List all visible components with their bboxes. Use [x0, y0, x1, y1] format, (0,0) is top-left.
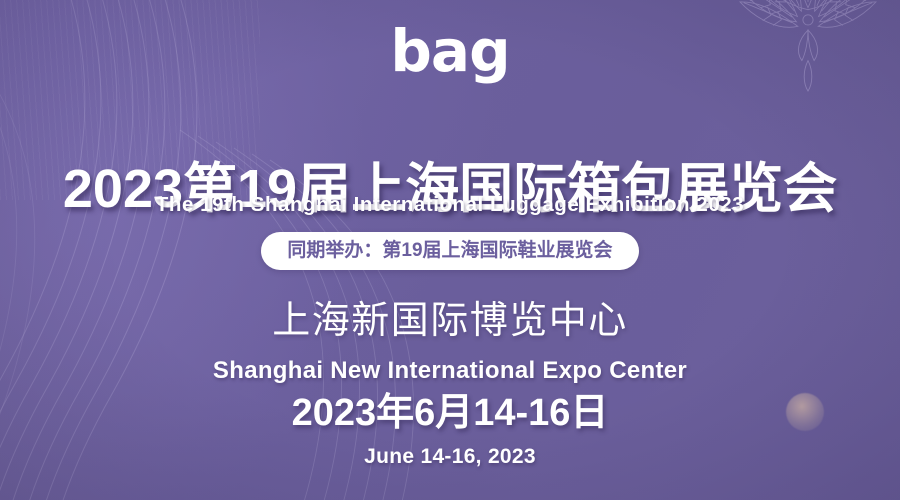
banner-content: bag 2023第19届上海国际箱包展览会 The 19th Shanghai …	[0, 0, 900, 500]
exhibition-banner: bag 2023第19届上海国际箱包展览会 The 19th Shanghai …	[0, 0, 900, 500]
concurrent-event-row: 同期举办：第19届上海国际鞋业展览会	[0, 232, 900, 270]
event-title-english: The 19th Shanghai International Luggage …	[0, 193, 900, 217]
concurrent-event-badge: 同期举办：第19届上海国际鞋业展览会	[261, 232, 638, 270]
event-date-english: June 14-16, 2023	[0, 445, 900, 469]
venue-name-chinese: 上海新国际博览中心	[0, 299, 900, 345]
event-date-chinese: 2023年6月14-16日	[0, 392, 900, 436]
venue-name-english: Shanghai New International Expo Center	[0, 357, 900, 385]
bag-logo: bag	[0, 22, 900, 80]
